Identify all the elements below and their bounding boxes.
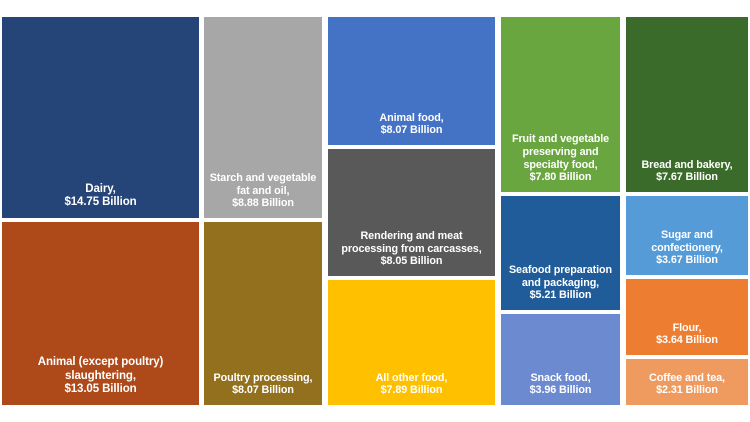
treemap-tile-label: Animal (except poultry) slaughtering, $1… [38,356,164,397]
treemap-tile-bread-and-bakery[interactable]: Bread and bakery, $7.67 Billion [626,17,748,192]
treemap-tile-label: Fruit and vegetable preserving and speci… [512,133,609,184]
treemap-tile-poultry-processing[interactable]: Poultry processing, $8.07 Billion [204,222,322,405]
treemap-tile-rendering-and-meat-processing-from-carcasses[interactable]: Rendering and meat processing from carca… [328,149,495,276]
treemap-tile-label: Coffee and tea, $2.31 Billion [649,372,725,397]
treemap-tile-label: Seafood preparation and packaging, $5.21… [509,264,612,302]
treemap-tile-flour[interactable]: Flour, $3.64 Billion [626,279,748,355]
treemap-tile-fruit-and-vegetable-preserving-and-specialty-food[interactable]: Fruit and vegetable preserving and speci… [501,17,620,192]
treemap-tile-label: Animal food, $8.07 Billion [379,112,443,137]
treemap-tile-snack-food[interactable]: Snack food, $3.96 Billion [501,314,620,405]
treemap-tile-label: Starch and vegetable fat and oil, $8.88 … [210,172,317,210]
treemap-tile-dairy[interactable]: Dairy, $14.75 Billion [2,17,199,218]
treemap-tile-sugar-and-confectionery[interactable]: Sugar and confectionery, $3.67 Billion [626,196,748,275]
treemap-tile-label: All other food, $7.89 Billion [376,372,448,397]
treemap-tile-label: Poultry processing, $8.07 Billion [214,372,313,397]
treemap-tile-seafood-preparation-and-packaging[interactable]: Seafood preparation and packaging, $5.21… [501,196,620,310]
treemap-tile-animal-except-poultry-slaughtering[interactable]: Animal (except poultry) slaughtering, $1… [2,222,199,405]
treemap-tile-label: Rendering and meat processing from carca… [341,230,481,268]
treemap-tile-label: Snack food, $3.96 Billion [530,372,592,397]
treemap-tile-label: Bread and bakery, $7.67 Billion [641,159,732,184]
treemap-tile-label: Flour, $3.64 Billion [656,322,718,347]
treemap-chart: Dairy, $14.75 BillionAnimal (except poul… [0,0,750,422]
treemap-tile-label: Dairy, $14.75 Billion [64,183,136,210]
treemap-tile-all-other-food[interactable]: All other food, $7.89 Billion [328,280,495,405]
treemap-tile-coffee-and-tea[interactable]: Coffee and tea, $2.31 Billion [626,359,748,405]
treemap-tile-starch-and-vegetable-fat-and-oil[interactable]: Starch and vegetable fat and oil, $8.88 … [204,17,322,218]
treemap-tile-animal-food[interactable]: Animal food, $8.07 Billion [328,17,495,145]
treemap-tile-label: Sugar and confectionery, $3.67 Billion [651,229,723,267]
